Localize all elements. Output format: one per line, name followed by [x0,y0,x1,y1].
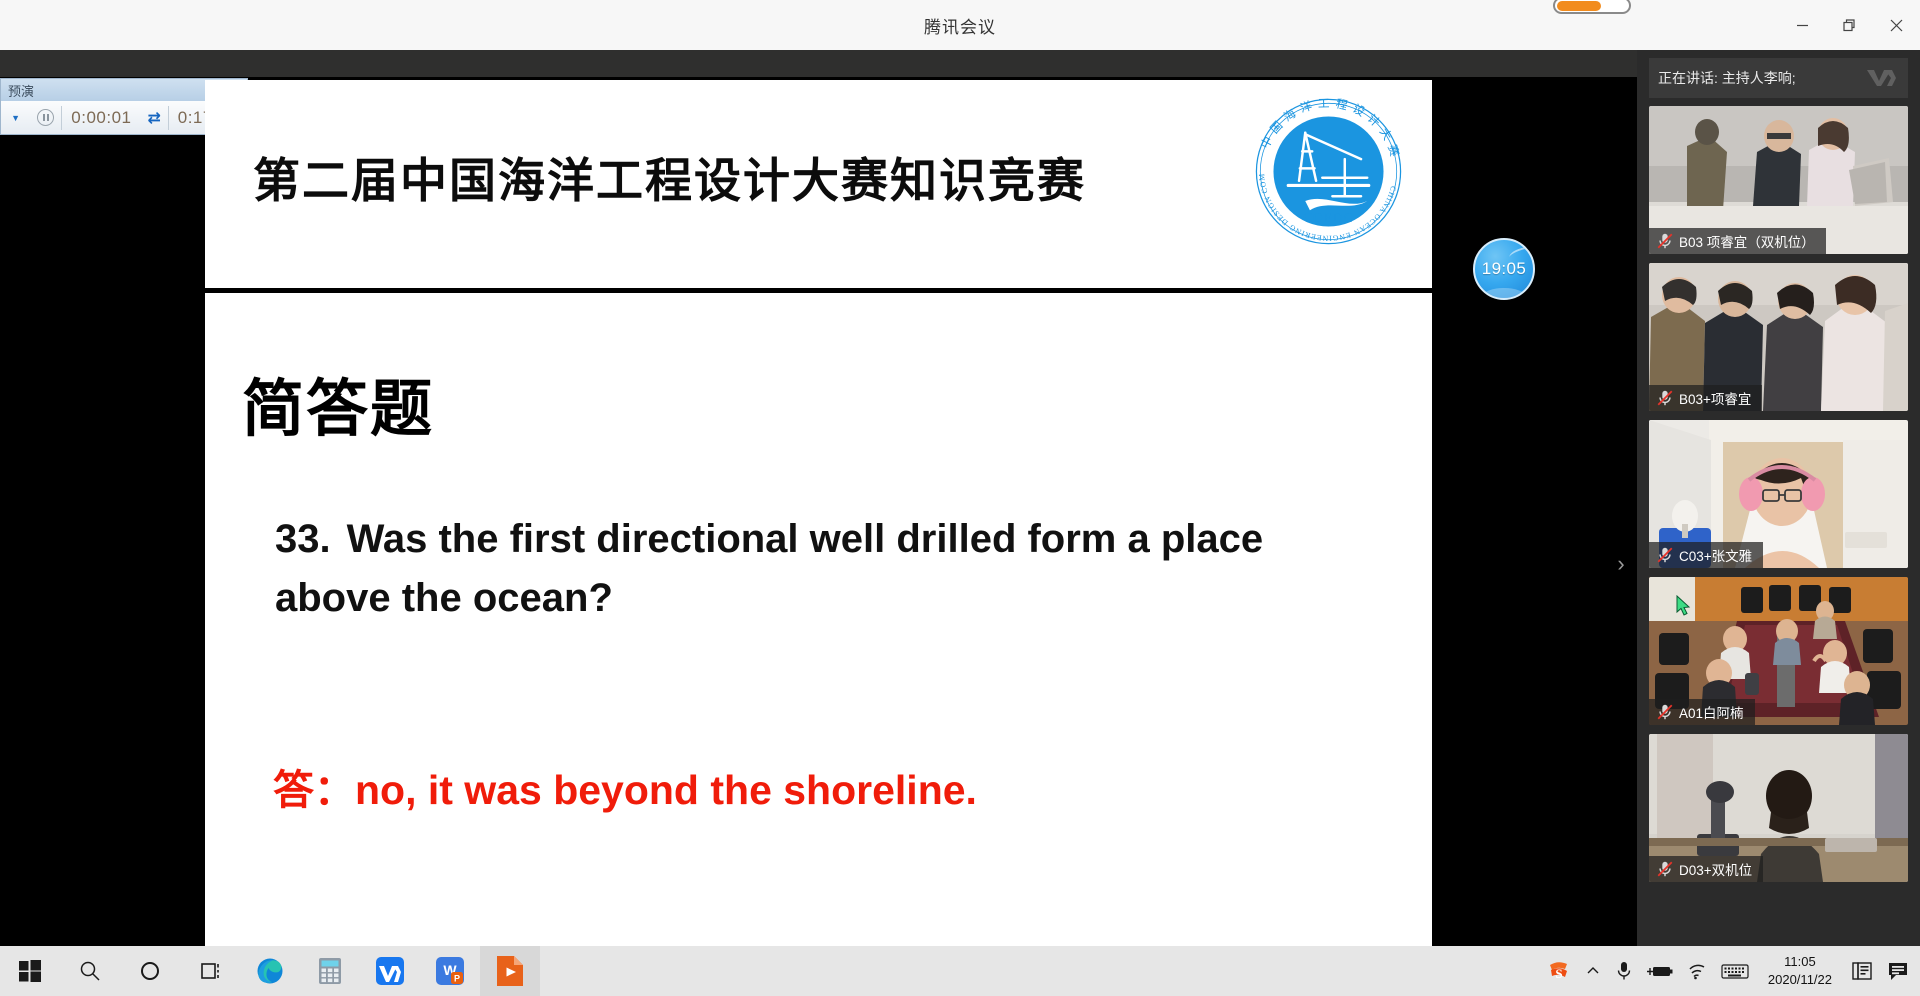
participant-tile[interactable]: A01白阿楠 [1649,577,1908,725]
mouse-cursor-icon [1676,595,1692,617]
answer-label: 答： [273,767,355,813]
participants-sidebar: 正在讲话: 主持人李响; [1637,50,1920,996]
task-view-icon[interactable] [180,946,240,996]
clock-date: 2020/11/22 [1768,971,1832,989]
repeat-icon[interactable]: ⇄ [141,108,168,128]
mic-muted-icon [1656,232,1674,250]
window-controls [1779,0,1920,50]
window-title: 腾讯会议 [924,13,996,38]
share-indicator-fill [1557,1,1601,11]
participant-name: C03+张文雅 [1679,545,1752,565]
chevron-right-icon[interactable]: › [1608,540,1634,588]
share-indicator-pill [1553,0,1631,14]
tencent-meeting-logo-icon [1865,69,1899,87]
speaking-status-text: 正在讲话: 主持人李响; [1658,68,1796,88]
chevron-down-icon[interactable]: ▼ [1,113,30,123]
svg-text:COEDC: COEDC [1303,210,1354,225]
slide-answer: 答：no, it was beyond the shoreline. [273,764,1323,817]
restore-icon[interactable] [1826,0,1873,50]
participant-tile[interactable]: D03+双机位 [1649,734,1908,882]
meeting-timer-bubble[interactable]: 19:05 [1473,238,1535,300]
speaking-status-bar: 正在讲话: 主持人李响; [1649,58,1908,98]
bubble-wave [1473,288,1535,300]
windows-taskbar: W P S [0,946,1920,996]
show-hidden-icons-chevron[interactable] [1578,946,1608,996]
network-icon[interactable] [1680,946,1714,996]
mic-muted-icon [1656,546,1674,564]
participant-label: B03+项睿宜 [1649,385,1762,411]
elapsed-time: 0:00:01 [62,108,140,128]
slide-header: 第二届中国海洋工程设计大赛知识竞赛 中国海洋工程设计大赛 CHINA OCEAN… [205,80,1432,293]
slide-section-heading: 简答题 [242,358,434,448]
svg-text:P: P [454,974,460,984]
participant-label: B03 项睿宜（双机位） [1649,228,1826,254]
participant-name: D03+双机位 [1679,859,1752,879]
mic-muted-icon [1656,860,1674,878]
answer-text: no, it was beyond the shoreline. [355,767,977,813]
slide-header-title: 第二届中国海洋工程设计大赛知识竞赛 [253,142,1086,211]
share-top-strip [0,50,1637,77]
participant-tile[interactable]: C03+张文雅 [1649,420,1908,568]
participant-label: A01白阿楠 [1649,699,1755,725]
participant-tile[interactable]: B03 项睿宜（双机位） [1649,106,1908,254]
shared-slide: 第二届中国海洋工程设计大赛知识竞赛 中国海洋工程设计大赛 CHINA OCEAN… [205,80,1432,995]
powerpoint-icon[interactable] [480,946,540,996]
tencent-meeting-icon[interactable] [360,946,420,996]
mic-muted-icon [1656,703,1674,721]
taskbar-clock[interactable]: 11:05 2020/11/22 [1756,946,1844,996]
news-icon[interactable] [1844,946,1880,996]
timer-value: 19:05 [1482,259,1527,279]
svg-text:S: S [1555,966,1562,981]
participant-name: B03+项睿宜 [1679,388,1751,408]
start-button[interactable] [0,946,60,996]
action-center-icon[interactable] [1880,946,1916,996]
participant-label: D03+双机位 [1649,856,1763,882]
edge-icon[interactable] [240,946,300,996]
participant-name: B03 项睿宜（双机位） [1679,231,1815,251]
pause-button[interactable] [30,109,61,126]
meeting-content-area: 预演 ▼ 0:00:01 ⇄ 0:17:10 第二届中国海洋工程设计大赛知识竞赛 [0,50,1920,996]
calculator-icon[interactable] [300,946,360,996]
battery-icon[interactable] [1640,946,1680,996]
microphone-icon[interactable] [1608,946,1640,996]
close-icon[interactable] [1873,0,1920,50]
window-title-bar: 腾讯会议 [0,0,1920,50]
participant-tile[interactable]: B03+项睿宜 [1649,263,1908,411]
coedc-logo-icon: 中国海洋工程设计大赛 CHINA OCEAN ENGINEERING DESIG… [1251,94,1406,249]
clock-time: 11:05 [1784,953,1816,971]
search-icon[interactable] [60,946,120,996]
keyboard-icon[interactable] [1714,946,1756,996]
taskbar-apps: W P [0,946,540,996]
wps-presentation-icon[interactable]: W P [420,946,480,996]
participant-label: C03+张文雅 [1649,542,1763,568]
participant-name: A01白阿楠 [1679,702,1744,722]
system-tray: S [1540,946,1920,996]
slide-question: 33.Was the first directional well drille… [275,510,1295,628]
minimize-icon[interactable] [1779,0,1826,50]
cortana-icon[interactable] [120,946,180,996]
mic-muted-icon [1656,389,1674,407]
question-text: Was the first directional well drilled f… [275,517,1263,620]
sogou-input-icon[interactable]: S [1540,946,1578,996]
question-number: 33. [275,517,331,561]
